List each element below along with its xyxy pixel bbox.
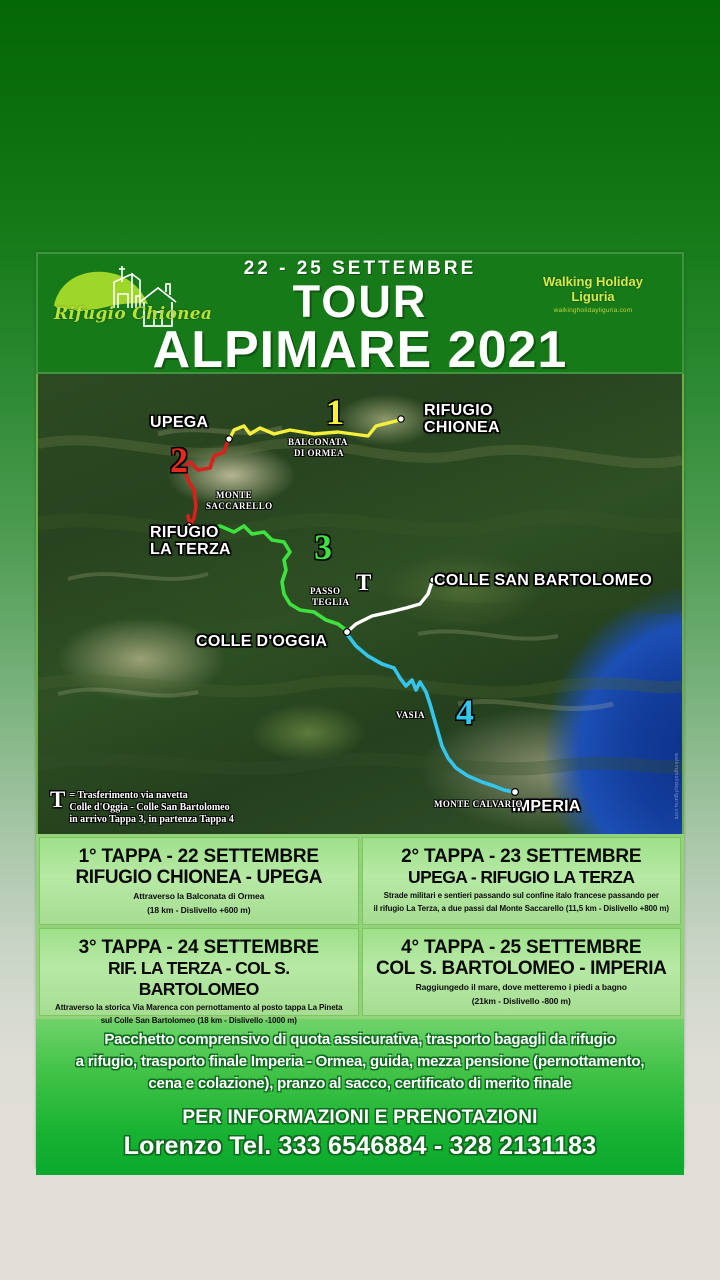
map-transfer-marker-t: T bbox=[356, 570, 371, 596]
stage-1-desc-1: Attraverso la Balconata di Ormea bbox=[46, 891, 352, 902]
stage-3-route: RIF. LA TERZA - COL S. BARTOLOMEO bbox=[46, 958, 352, 1000]
brand-name-line1: Walking Holiday bbox=[518, 274, 668, 289]
stage-card-2[interactable]: 2° TAPPA - 23 SETTEMBRE UPEGA - RIFUGIO … bbox=[362, 837, 682, 925]
poster-header: Rifugio Chionea 22 - 25 SETTEMBRE TOUR A… bbox=[36, 252, 684, 374]
package-line-2: a rifugio, trasporto finale Imperia - Or… bbox=[50, 1051, 670, 1073]
map-stage-number-2: 2 bbox=[170, 442, 188, 478]
legend-line-2: Colle d'Oggia - Colle San Bartolomeo bbox=[69, 802, 234, 814]
route-map[interactable]: UPEGA RIFUGIO CHIONEA RIFUGIO LA TERZA C… bbox=[36, 374, 684, 834]
map-label-colle-san-bartolomeo: COLLE SAN BARTOLOMEO bbox=[434, 572, 652, 589]
stage-4-title: 4° TAPPA - 25 SETTEMBRE bbox=[369, 937, 675, 958]
map-label-rifugio-chionea-2: CHIONEA bbox=[424, 419, 500, 436]
poster: Rifugio Chionea 22 - 25 SETTEMBRE TOUR A… bbox=[36, 252, 684, 1168]
map-label-balconata-2: DI ORMEA bbox=[294, 448, 344, 459]
page-title-line2: ALPIMARE 2021 bbox=[38, 324, 682, 374]
stage-4-route: COL S. BARTOLOMEO - IMPERIA bbox=[369, 958, 675, 979]
contact-cta: PER INFORMAZIONI E PRENOTAZIONI bbox=[50, 1105, 670, 1131]
package-line-1: Pacchetto comprensivo di quota assicurat… bbox=[50, 1029, 670, 1051]
package-line-3: cena e colazione), pranzo al sacco, cert… bbox=[50, 1073, 670, 1095]
brand-name-line2: Liguria bbox=[518, 289, 668, 304]
map-label-balconata-1: BALCONATA bbox=[288, 437, 348, 448]
stage-3-title: 3° TAPPA - 24 SETTEMBRE bbox=[46, 937, 352, 958]
map-stage-number-4: 4 bbox=[456, 694, 474, 730]
stage-2-route: UPEGA - RIFUGIO LA TERZA bbox=[369, 867, 675, 888]
map-stage-number-1: 1 bbox=[326, 394, 344, 430]
map-legend: T = Trasferimento via navetta Colle d'Og… bbox=[50, 790, 234, 826]
stage-3-desc-1: Attraverso la storica Via Marenca con pe… bbox=[46, 1003, 352, 1013]
stage-card-3[interactable]: 3° TAPPA - 24 SETTEMBRE RIF. LA TERZA - … bbox=[39, 928, 359, 1016]
map-routes-overlay bbox=[38, 374, 682, 834]
brand-block: Walking Holiday Liguria walkingholidayli… bbox=[518, 274, 668, 314]
map-label-rifugio-laterza-1: RIFUGIO bbox=[150, 524, 219, 541]
map-label-vasia: VASIA bbox=[396, 710, 425, 721]
stage-1-desc-2: (18 km - Dislivello +600 m) bbox=[46, 905, 352, 916]
legend-symbol-t: T bbox=[50, 790, 65, 810]
stage-1-route: RIFUGIO CHIONEA - UPEGA bbox=[46, 867, 352, 888]
stage-4-desc-2: (21km - Dislivello -800 m) bbox=[369, 996, 675, 1007]
legend-line-3: in arrivo Tappa 3, in partenza Tappa 4 bbox=[69, 814, 234, 826]
stage-card-1[interactable]: 1° TAPPA - 22 SETTEMBRE RIFUGIO CHIONEA … bbox=[39, 837, 359, 925]
map-label-rifugio-chionea-1: RIFUGIO bbox=[424, 402, 493, 419]
map-stage-number-3: 3 bbox=[314, 529, 332, 565]
map-watermark: walkingholidayliguria.com bbox=[673, 753, 679, 820]
legend-line-1: = Trasferimento via navetta bbox=[69, 790, 234, 802]
stage-2-title: 2° TAPPA - 23 SETTEMBRE bbox=[369, 846, 675, 867]
stage-1-title: 1° TAPPA - 22 SETTEMBRE bbox=[46, 846, 352, 867]
stage-4-desc-1: Raggiungedo il mare, dove metteremo i pi… bbox=[369, 982, 675, 993]
map-label-monte-saccarello-1: MONTE bbox=[216, 490, 252, 501]
map-label-monte-saccarello-2: SACCARELLO bbox=[206, 501, 273, 512]
map-label-rifugio-laterza-2: LA TERZA bbox=[150, 541, 231, 558]
map-label-passo-teglia-1: PASSO bbox=[310, 586, 340, 597]
poster-footer: Pacchetto comprensivo di quota assicurat… bbox=[36, 1019, 684, 1175]
stage-card-4[interactable]: 4° TAPPA - 25 SETTEMBRE COL S. BARTOLOME… bbox=[362, 928, 682, 1016]
map-label-upega: UPEGA bbox=[150, 414, 208, 431]
map-label-monte-calvario: MONTE CALVARIO bbox=[434, 799, 523, 810]
stage-2-desc-1: Strade militari e sentieri passando sul … bbox=[369, 891, 675, 901]
contact-phone[interactable]: Lorenzo Tel. 333 6546884 - 328 2131183 bbox=[50, 1131, 670, 1161]
map-label-colle-doggia: COLLE D'OGGIA bbox=[196, 633, 327, 650]
brand-url: walkingholidayliguria.com bbox=[518, 307, 668, 314]
stage-3-desc-2: sul Colle San Bartolomeo (18 km - Disliv… bbox=[46, 1016, 352, 1026]
stage-2-desc-2: il rifugio La Terza, a due passi dal Mon… bbox=[369, 904, 675, 914]
stage-cards: 1° TAPPA - 22 SETTEMBRE RIFUGIO CHIONEA … bbox=[36, 834, 684, 1019]
map-label-passo-teglia-2: TEGLIA bbox=[312, 597, 349, 608]
